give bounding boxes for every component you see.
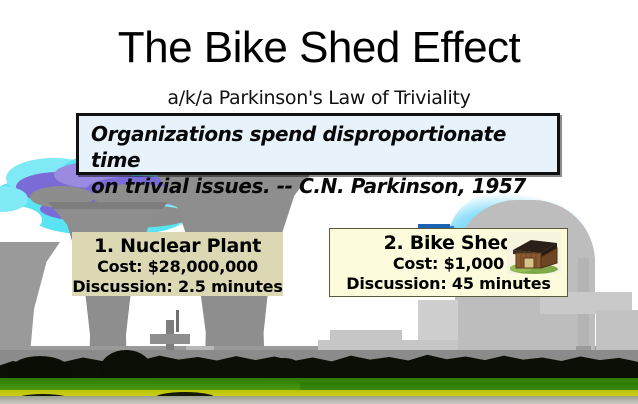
bike-shed-label-card: 2. Bike Shed Cost: $1,000 Discussion: 45…	[329, 228, 568, 297]
nuclear-label-title: 1. Nuclear Plant	[72, 235, 283, 257]
nuclear-plant-label-card: 1. Nuclear Plant Cost: $28,000,000 Discu…	[72, 232, 283, 296]
pylon-antenna	[176, 310, 179, 332]
shed-icon	[507, 232, 561, 274]
quote-text: Organizations spend disproportionate tim…	[91, 121, 553, 199]
quote-box: Organizations spend disproportionate tim…	[76, 113, 560, 175]
nuclear-label-discussion: Discussion: 2.5 minutes	[72, 277, 283, 297]
slide-canvas: The Bike Shed Effect a/k/a Parkinson's L…	[0, 0, 638, 404]
page-title: The Bike Shed Effect	[0, 22, 638, 74]
foreground-road	[0, 396, 638, 404]
pylon-crossarm	[150, 334, 190, 344]
nuclear-label-cost: Cost: $28,000,000	[72, 257, 283, 277]
shed-label-discussion: Discussion: 45 minutes	[330, 274, 567, 294]
page-subtitle: a/k/a Parkinson's Law of Triviality	[0, 86, 638, 110]
